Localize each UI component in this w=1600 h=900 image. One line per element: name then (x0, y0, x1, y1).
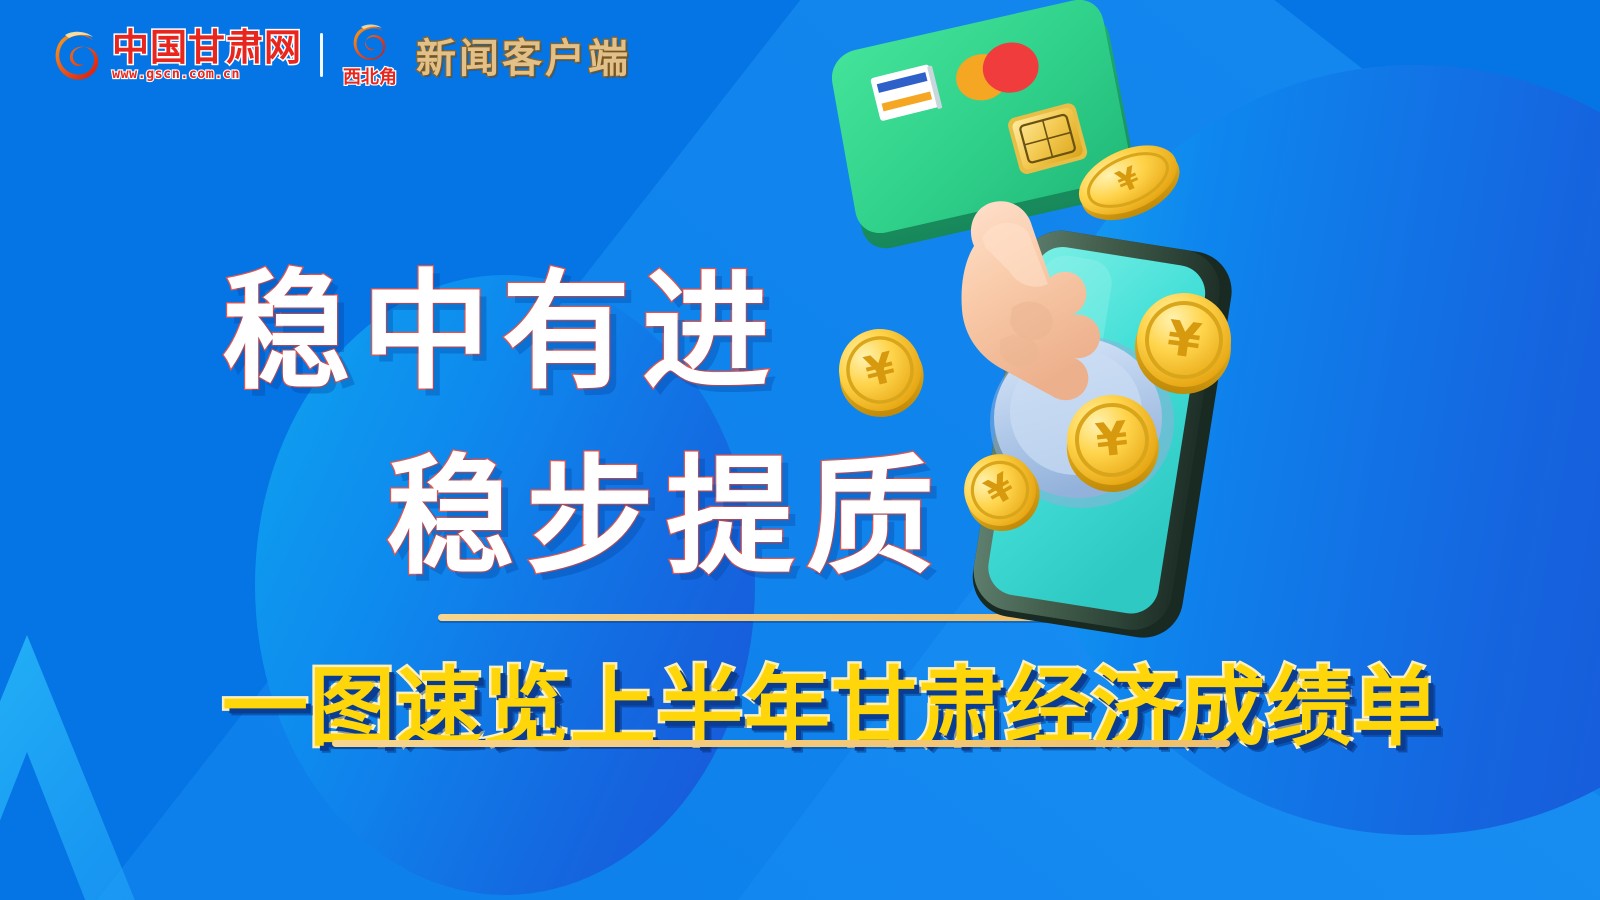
hand-phone-card-illustration: ¥ ¥ ¥ ¥ (760, 40, 1320, 620)
coin-left: ¥ (829, 320, 932, 426)
title-line-1: 稳中有进 (222, 228, 782, 413)
bottom-divider (332, 740, 1230, 747)
poster-canvas: 中国甘肃网 www.gscn.com.cn 西北 (0, 0, 1600, 900)
svg-text:¥: ¥ (1093, 410, 1130, 467)
hand-illustration (962, 201, 1101, 400)
